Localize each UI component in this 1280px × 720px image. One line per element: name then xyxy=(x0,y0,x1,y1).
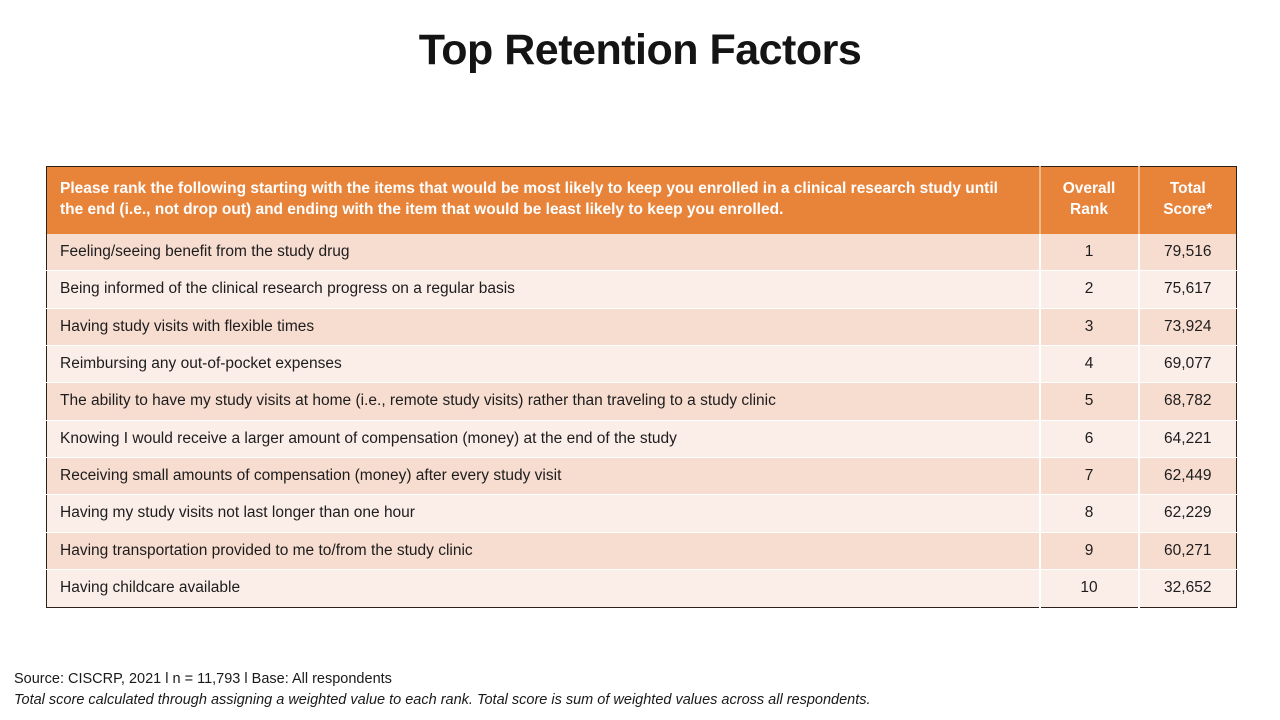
table-row: Receiving small amounts of compensation … xyxy=(47,458,1237,495)
overall-rank-value: 8 xyxy=(1040,495,1139,532)
retention-factor-label: Having transportation provided to me to/… xyxy=(47,532,1040,569)
overall-rank-value: 5 xyxy=(1040,383,1139,420)
table-row: Knowing I would receive a larger amount … xyxy=(47,420,1237,457)
total-score-value: 62,449 xyxy=(1139,458,1237,495)
footnote-methodology-note: Total score calculated through assigning… xyxy=(14,690,1264,712)
overall-rank-value: 7 xyxy=(1040,458,1139,495)
retention-factor-label: Having childcare available xyxy=(47,570,1040,607)
total-score-value: 62,229 xyxy=(1139,495,1237,532)
retention-factor-label: Being informed of the clinical research … xyxy=(47,271,1040,308)
total-score-value: 64,221 xyxy=(1139,420,1237,457)
retention-factor-label: The ability to have my study visits at h… xyxy=(47,383,1040,420)
total-score-value: 68,782 xyxy=(1139,383,1237,420)
total-score-value: 69,077 xyxy=(1139,345,1237,382)
table-row: Feeling/seeing benefit from the study dr… xyxy=(47,234,1237,271)
table-row: The ability to have my study visits at h… xyxy=(47,383,1237,420)
overall-rank-value: 3 xyxy=(1040,308,1139,345)
overall-rank-value: 6 xyxy=(1040,420,1139,457)
retention-factor-label: Feeling/seeing benefit from the study dr… xyxy=(47,234,1040,271)
footnote-source: Source: CISCRP, 2021 l n = 11,793 l Base… xyxy=(14,669,1264,691)
column-header-total-score: Total Score* xyxy=(1139,167,1237,234)
total-score-value: 32,652 xyxy=(1139,570,1237,607)
total-score-value: 73,924 xyxy=(1139,308,1237,345)
table-row: Being informed of the clinical research … xyxy=(47,271,1237,308)
table-row: Having my study visits not last longer t… xyxy=(47,495,1237,532)
table-body: Feeling/seeing benefit from the study dr… xyxy=(47,234,1237,607)
table-row: Having childcare available1032,652 xyxy=(47,570,1237,607)
retention-factor-label: Receiving small amounts of compensation … xyxy=(47,458,1040,495)
total-score-value: 79,516 xyxy=(1139,234,1237,271)
overall-rank-value: 2 xyxy=(1040,271,1139,308)
overall-rank-value: 4 xyxy=(1040,345,1139,382)
footnotes: Source: CISCRP, 2021 l n = 11,793 l Base… xyxy=(14,669,1264,713)
overall-rank-value: 10 xyxy=(1040,570,1139,607)
table-header-row: Please rank the following starting with … xyxy=(47,167,1237,234)
column-header-overall-rank: Overall Rank xyxy=(1040,167,1139,234)
retention-factors-table: Please rank the following starting with … xyxy=(46,166,1237,608)
page-title: Top Retention Factors xyxy=(0,0,1280,74)
table-header: Please rank the following starting with … xyxy=(47,167,1237,234)
overall-rank-value: 1 xyxy=(1040,234,1139,271)
retention-factor-label: Having my study visits not last longer t… xyxy=(47,495,1040,532)
table-row: Reimbursing any out-of-pocket expenses46… xyxy=(47,345,1237,382)
retention-factor-label: Knowing I would receive a larger amount … xyxy=(47,420,1040,457)
overall-rank-value: 9 xyxy=(1040,532,1139,569)
total-score-value: 75,617 xyxy=(1139,271,1237,308)
retention-factors-table-container: Please rank the following starting with … xyxy=(46,166,1236,608)
table-row: Having transportation provided to me to/… xyxy=(47,532,1237,569)
retention-factor-label: Having study visits with flexible times xyxy=(47,308,1040,345)
retention-factor-label: Reimbursing any out-of-pocket expenses xyxy=(47,345,1040,382)
column-header-question: Please rank the following starting with … xyxy=(47,167,1040,234)
table-row: Having study visits with flexible times3… xyxy=(47,308,1237,345)
total-score-value: 60,271 xyxy=(1139,532,1237,569)
